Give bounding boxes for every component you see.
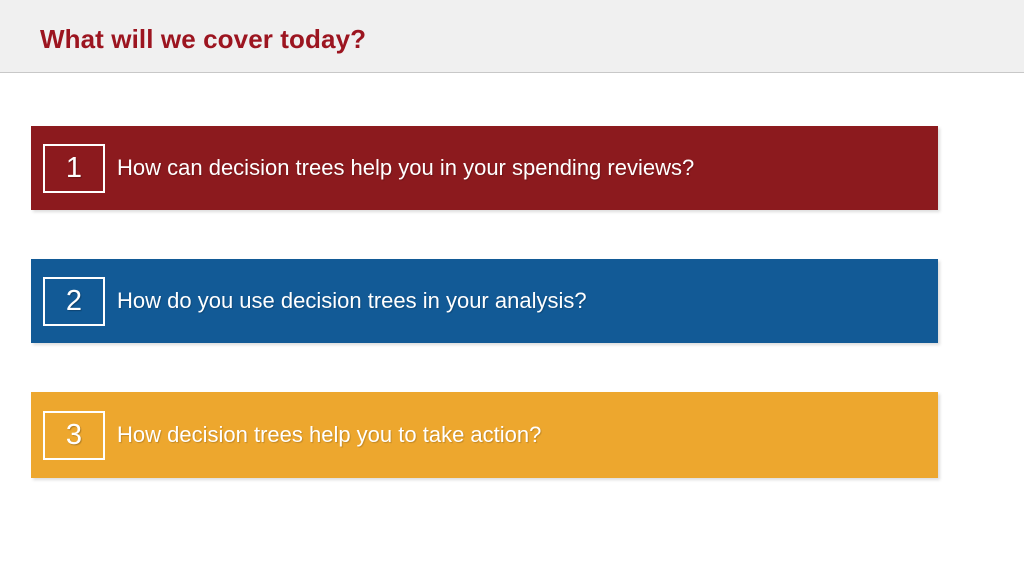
agenda-item-label-1: How can decision trees help you in your … <box>117 155 938 180</box>
agenda-number-badge-2: 2 <box>43 277 105 326</box>
slide-canvas: What will we cover today? 1 How can deci… <box>0 0 1024 576</box>
agenda-item-1[interactable]: 1 How can decision trees help you in you… <box>31 126 938 210</box>
agenda-item-label-2: How do you use decision trees in your an… <box>117 288 938 313</box>
slide-header-band: What will we cover today? <box>0 0 1024 73</box>
agenda-item-3[interactable]: 3 How decision trees help you to take ac… <box>31 392 938 478</box>
agenda-list: 1 How can decision trees help you in you… <box>0 73 1024 576</box>
agenda-item-2[interactable]: 2 How do you use decision trees in your … <box>31 259 938 343</box>
agenda-number-badge-1: 1 <box>43 144 105 193</box>
agenda-number-badge-3: 3 <box>43 411 105 460</box>
agenda-item-label-3: How decision trees help you to take acti… <box>117 422 938 447</box>
page-title: What will we cover today? <box>40 24 366 55</box>
